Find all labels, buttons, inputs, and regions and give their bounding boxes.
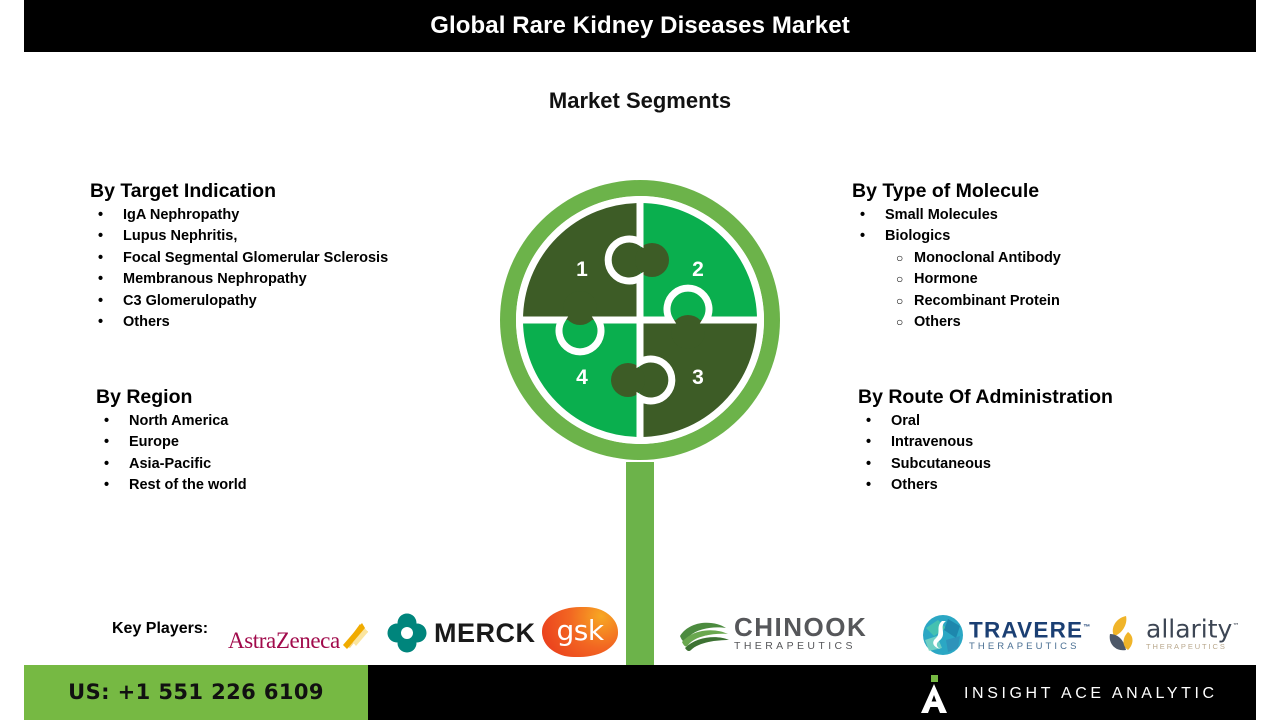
list-item-label: Others: [891, 477, 938, 493]
logo-allarity-wordmark: allarity™: [1146, 614, 1239, 641]
bullet-icon: •: [98, 291, 103, 312]
list-item-label: Small Molecules: [885, 207, 998, 223]
list-item-label: Recombinant Protein: [914, 293, 1060, 309]
key-players-label: Key Players:: [112, 620, 208, 638]
brand-lockup: INSIGHT ACE ANALYTIC: [920, 675, 1218, 713]
puzzle-piece-label-2: 2: [692, 258, 704, 281]
list-item: ○Recombinant Protein: [852, 291, 1061, 312]
logo-allarity-subtitle: THERAPEUTICS: [1146, 641, 1239, 652]
segment-list: •Oral •Intravenous •Subcutaneous •Others: [858, 411, 1113, 497]
trademark-symbol: ™: [1083, 624, 1091, 631]
segment-route-of-administration: By Route Of Administration •Oral •Intrav…: [858, 386, 1113, 497]
subtitle: Market Segments: [0, 88, 1280, 114]
list-item: •Small Molecules: [852, 205, 1061, 226]
bullet-icon: •: [104, 475, 109, 496]
logo-gsk-wordmark: gsk: [556, 614, 603, 647]
list-item-label: C3 Glomerulopathy: [123, 293, 257, 309]
magnifier-handle: [626, 462, 654, 672]
segment-title: By Region: [96, 386, 247, 409]
list-item: ○Others: [852, 312, 1061, 333]
puzzle-pieces: [496, 162, 784, 464]
chinook-wave-icon: [676, 614, 730, 654]
list-item-label: Others: [914, 314, 961, 330]
list-item-label: IgA Nephropathy: [123, 207, 239, 223]
list-item-label: Asia-Pacific: [129, 456, 211, 472]
page-title: Global Rare Kidney Diseases Market: [24, 0, 1256, 52]
bullet-icon: •: [98, 226, 103, 247]
travere-wordmark-group: TRAVERE™ THERAPEUTICS: [969, 617, 1091, 654]
segment-target-indication: By Target Indication •IgA Nephropathy •L…: [90, 180, 388, 333]
list-item: •Membranous Nephropathy: [90, 269, 388, 290]
logo-travere-wordmark: TRAVERE™: [969, 617, 1091, 642]
logo-astrazeneca-wordmark: AstraZeneca: [228, 628, 340, 654]
letter-a-monogram-icon: [920, 675, 948, 713]
magnifying-glass-puzzle-icon: 1 2 3 4: [480, 162, 800, 672]
list-item: •Others: [858, 475, 1113, 496]
segment-list: •Small Molecules •Biologics ○Monoclonal …: [852, 205, 1061, 333]
chinook-wordmark-group: CHINOOK THERAPEUTICS: [734, 615, 867, 653]
list-item: ○Hormone: [852, 269, 1061, 290]
logo-merck-wordmark: MERCK: [434, 618, 536, 649]
list-item-label: Intravenous: [891, 434, 973, 450]
logo-allarity: allarity™ THERAPEUTICS: [1104, 612, 1239, 654]
circle-bullet-icon: ○: [896, 248, 903, 269]
logo-travere-subtitle: THERAPEUTICS: [969, 641, 1091, 653]
brand-name: INSIGHT ACE ANALYTIC: [964, 685, 1218, 703]
circle-bullet-icon: ○: [896, 269, 903, 290]
bullet-icon: •: [866, 454, 871, 475]
bullet-icon: •: [866, 475, 871, 496]
list-item-label: Others: [123, 314, 170, 330]
puzzle-piece-label-3: 3: [692, 366, 704, 389]
logo-merck: MERCK: [386, 612, 536, 654]
list-item-label: Membranous Nephropathy: [123, 271, 307, 287]
footer-phone-banner: US: +1 551 226 6109: [24, 665, 368, 720]
list-item: •IgA Nephropathy: [90, 205, 388, 226]
footer-phone-number[interactable]: US: +1 551 226 6109: [24, 665, 368, 720]
list-item-label: Europe: [129, 434, 179, 450]
list-item: •Intravenous: [858, 432, 1113, 453]
bullet-icon: •: [104, 454, 109, 475]
bullet-icon: •: [98, 312, 103, 333]
list-item-label: Focal Segmental Glomerular Sclerosis: [123, 250, 388, 266]
logo-chinook-subtitle: THERAPEUTICS: [734, 640, 867, 653]
list-item: •Rest of the world: [96, 475, 247, 496]
list-item: •Asia-Pacific: [96, 454, 247, 475]
logo-chinook-wordmark: CHINOOK: [734, 615, 867, 640]
logo-chinook: CHINOOK THERAPEUTICS: [676, 614, 867, 654]
list-item: •Subcutaneous: [858, 454, 1113, 475]
bullet-icon: •: [104, 411, 109, 432]
logo-astrazeneca: AstraZeneca: [228, 620, 372, 662]
list-item: •Biologics: [852, 226, 1061, 247]
segment-title: By Route Of Administration: [858, 386, 1113, 409]
bullet-icon: •: [98, 205, 103, 226]
bullet-icon: •: [860, 205, 865, 226]
segment-title: By Type of Molecule: [852, 180, 1061, 203]
list-item: •Oral: [858, 411, 1113, 432]
allarity-wordmark-group: allarity™ THERAPEUTICS: [1146, 614, 1239, 652]
segment-list: •North America •Europe •Asia-Pacific •Re…: [96, 411, 247, 497]
list-item-label: Biologics: [885, 228, 950, 244]
list-item: •Lupus Nephritis,: [90, 226, 388, 247]
puzzle-piece-label-1: 1: [576, 258, 588, 281]
bullet-icon: •: [866, 432, 871, 453]
footer-brand-bar: INSIGHT ACE ANALYTIC: [368, 665, 1256, 720]
logo-travere: TRAVERE™ THERAPEUTICS: [922, 614, 1091, 656]
segment-title: By Target Indication: [90, 180, 388, 203]
merck-clover-icon: [386, 612, 428, 654]
list-item-label: Hormone: [914, 271, 978, 287]
segment-region: By Region •North America •Europe •Asia-P…: [96, 386, 247, 497]
header-bar: Global Rare Kidney Diseases Market: [24, 0, 1256, 52]
list-item: •C3 Glomerulopathy: [90, 291, 388, 312]
list-item-label: Rest of the world: [129, 477, 247, 493]
list-item-label: Oral: [891, 413, 920, 429]
logo-gsk: gsk: [542, 607, 618, 657]
astrazeneca-swirl-icon: [338, 620, 372, 654]
bullet-icon: •: [98, 269, 103, 290]
list-item-label: Monoclonal Antibody: [914, 250, 1061, 266]
list-item: •North America: [96, 411, 247, 432]
segment-type-of-molecule: By Type of Molecule •Small Molecules •Bi…: [852, 180, 1061, 333]
bullet-icon: •: [866, 411, 871, 432]
brand-dot: [931, 675, 938, 682]
bullet-icon: •: [98, 248, 103, 269]
puzzle-piece-label-4: 4: [576, 366, 588, 389]
list-item: •Focal Segmental Glomerular Sclerosis: [90, 248, 388, 269]
trademark-symbol: ™: [1232, 622, 1239, 630]
list-item-label: Subcutaneous: [891, 456, 991, 472]
circle-bullet-icon: ○: [896, 312, 903, 333]
list-item: •Others: [90, 312, 388, 333]
list-item: ○Monoclonal Antibody: [852, 248, 1061, 269]
allarity-leaf-icon: [1104, 612, 1144, 654]
list-item-label: North America: [129, 413, 228, 429]
circle-bullet-icon: ○: [896, 291, 903, 312]
travere-circle-icon: [922, 614, 964, 656]
list-item: •Europe: [96, 432, 247, 453]
bullet-icon: •: [104, 432, 109, 453]
list-item-label: Lupus Nephritis,: [123, 228, 237, 244]
segment-list: •IgA Nephropathy •Lupus Nephritis, •Foca…: [90, 205, 388, 333]
gsk-blob-icon: gsk: [542, 607, 618, 657]
bullet-icon: •: [860, 226, 865, 247]
